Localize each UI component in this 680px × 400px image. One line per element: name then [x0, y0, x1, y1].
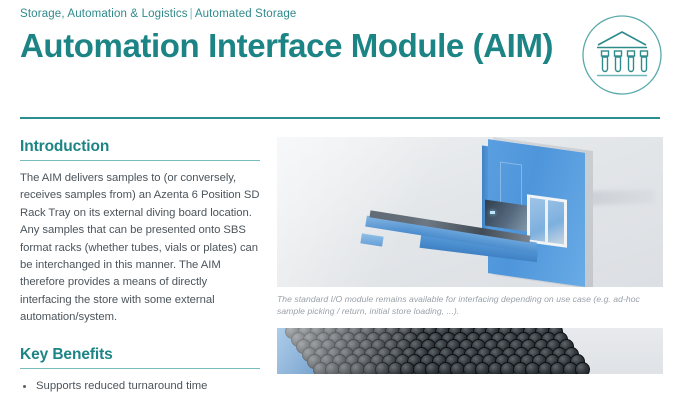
list-item: Supports reduced turnaround time	[20, 378, 260, 395]
figure-secondary	[277, 328, 663, 374]
vial-rack-circle-icon	[581, 14, 663, 96]
page-body: Introduction The AIM delivers samples to…	[0, 128, 680, 395]
page-header: Storage, Automation & Logistics|Automate…	[0, 0, 680, 128]
introduction-section: Introduction The AIM delivers samples to…	[20, 137, 260, 327]
automation-module-image	[277, 137, 663, 287]
introduction-body: The AIM delivers samples to (or converse…	[20, 170, 260, 327]
key-benefits-rule	[20, 368, 260, 369]
key-benefits-section: Key Benefits Supports reduced turnaround…	[20, 345, 260, 395]
introduction-heading: Introduction	[20, 137, 260, 156]
breadcrumb-subcategory: Automated Storage	[195, 8, 297, 20]
vial-cap	[575, 362, 590, 375]
figure-primary: The standard I/O module remains availabl…	[277, 137, 663, 317]
key-benefits-heading: Key Benefits	[20, 345, 260, 364]
figure-caption: The standard I/O module remains availabl…	[277, 294, 663, 317]
introduction-rule	[20, 160, 260, 161]
breadcrumb-separator: |	[188, 8, 195, 20]
datasheet-page: Storage, Automation & Logistics|Automate…	[0, 0, 680, 400]
left-column: Introduction The AIM delivers samples to…	[20, 128, 260, 395]
header-divider	[20, 117, 660, 119]
vial-caps-rack-image	[277, 328, 663, 374]
breadcrumb-category: Storage, Automation & Logistics	[20, 8, 188, 20]
right-column: The standard I/O module remains availabl…	[260, 128, 660, 395]
key-benefits-list: Supports reduced turnaround time	[20, 378, 260, 395]
page-title: Automation Interface Module (AIM)	[20, 28, 560, 64]
breadcrumb: Storage, Automation & Logistics|Automate…	[20, 7, 660, 21]
